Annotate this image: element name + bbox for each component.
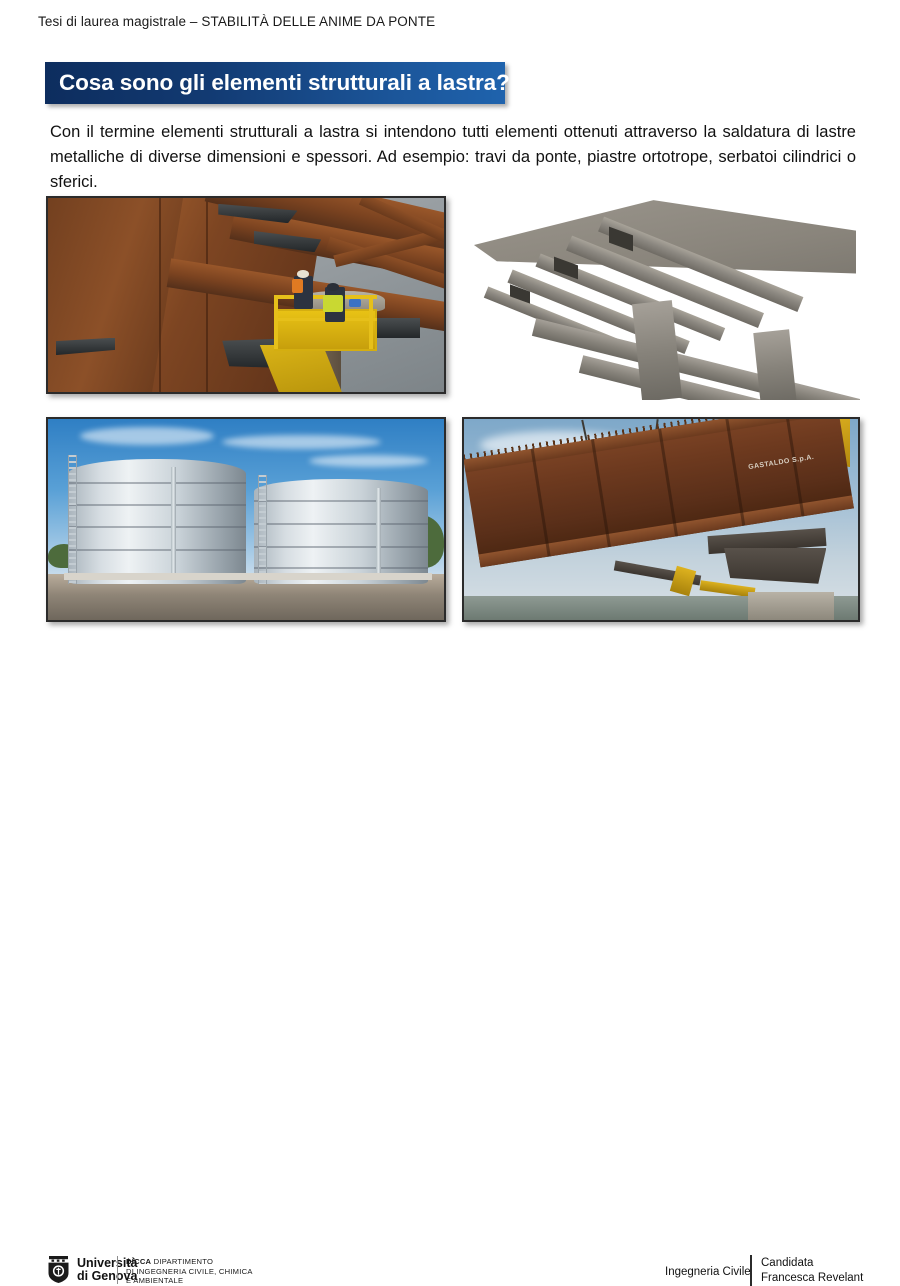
tank-band xyxy=(254,567,428,569)
concrete-pier xyxy=(748,592,835,620)
weld-seam xyxy=(159,198,161,392)
candidate-name: Francesca Revelant xyxy=(761,1271,863,1286)
page-title: Cosa sono gli elementi strutturali a las… xyxy=(45,70,510,96)
department-line3: E AMBIENTALE xyxy=(126,1276,253,1286)
tank-band xyxy=(254,500,428,502)
department-line2: DI INGEGNERIA CIVILE, CHIMICA xyxy=(126,1267,253,1277)
candidate-label: Candidata xyxy=(761,1256,863,1271)
logo-divider xyxy=(117,1256,118,1284)
tank-band xyxy=(68,526,246,528)
department-line1-rest: DIPARTIMENTO xyxy=(151,1257,213,1266)
presentation-slide: Tesi di laurea magistrale – STABILITÀ DE… xyxy=(0,0,900,673)
tank-band xyxy=(254,546,428,548)
weld-seam xyxy=(206,198,208,392)
worker-hi-vis-vest xyxy=(292,279,304,293)
steel-tank xyxy=(254,479,428,584)
tank-band xyxy=(68,504,246,506)
department-acronym: DICCA xyxy=(126,1257,151,1266)
steel-tanks-photo xyxy=(46,417,446,622)
cloud xyxy=(222,435,380,449)
worker-helmet xyxy=(297,270,309,278)
web-stiffener xyxy=(658,429,678,537)
web-stiffener xyxy=(725,418,745,526)
lifted-girder-photo: GASTALDO S.p.A. xyxy=(462,417,860,622)
university-logo: Università di Genova xyxy=(47,1256,137,1283)
platform-guardrail xyxy=(274,295,278,349)
web-stiffener xyxy=(531,449,551,557)
web-stiffener xyxy=(590,439,610,547)
tank-band xyxy=(68,482,246,484)
tank-ladder xyxy=(258,475,267,584)
tank-band xyxy=(68,549,246,551)
stiffener-bracket xyxy=(377,318,421,337)
footer-divider xyxy=(750,1255,752,1286)
tank-foundation xyxy=(250,573,432,580)
welding-torch xyxy=(349,299,361,307)
slide-header: Tesi di laurea magistrale – STABILITÀ DE… xyxy=(38,14,435,29)
tank-pipe xyxy=(171,467,176,577)
department-line1: DICCA DIPARTIMENTO xyxy=(126,1257,253,1267)
steel-tank xyxy=(68,459,246,584)
course-label: Ingegneria Civile xyxy=(665,1266,751,1278)
tank-pipe xyxy=(376,488,381,578)
bridge-underside-photo xyxy=(46,196,446,394)
platform-guardrail xyxy=(369,295,373,349)
shield-crest-icon xyxy=(47,1256,70,1283)
body-paragraph: Con il termine elementi strutturali a la… xyxy=(50,120,856,195)
tank-band xyxy=(254,523,428,525)
candidate-block: Candidata Francesca Revelant xyxy=(761,1256,863,1286)
department-text: DICCA DIPARTIMENTO DI INGEGNERIA CIVILE,… xyxy=(126,1257,253,1286)
main-girder-web xyxy=(753,329,796,400)
slide-title-banner: Cosa sono gli elementi strutturali a las… xyxy=(45,62,505,104)
orthotropic-deck-render xyxy=(462,196,860,400)
slide-footer: Università di Genova DICCA DIPARTIMENTO … xyxy=(0,623,900,673)
web-stiffener xyxy=(785,417,805,516)
tank-ladder xyxy=(68,455,77,584)
cloud xyxy=(80,427,215,445)
support-bracket xyxy=(724,548,826,584)
worker-hi-vis-vest xyxy=(323,295,343,312)
tank-foundation xyxy=(64,573,250,580)
